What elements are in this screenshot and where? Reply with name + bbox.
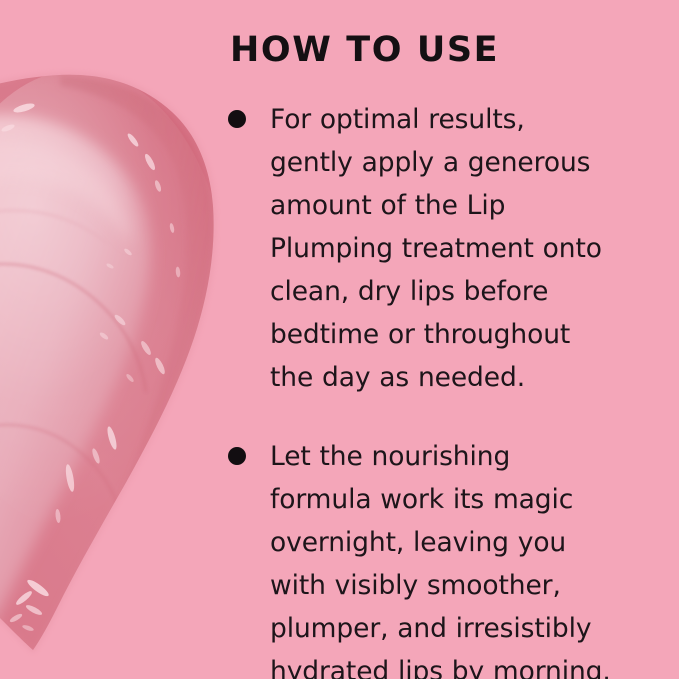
text-line: amount of the Lip (270, 184, 654, 227)
smear-fold-line-2 (0, 425, 120, 512)
smear-base-fill (0, 60, 250, 679)
text-line: For optimal results, (270, 98, 654, 141)
text-line: the day as needed. (270, 356, 654, 399)
overnight-instruction-text: Let the nourishing formula work its magi… (270, 435, 654, 679)
bullet-dot-icon (228, 447, 246, 465)
smear-sheen (0, 70, 228, 530)
text-line: hydrated lips by morning. (270, 650, 654, 679)
list-item-overnight-instruction: Let the nourishing formula work its magi… (228, 435, 654, 679)
text-line: formula work its magic (270, 478, 654, 521)
text-line: Plumping treatment onto (270, 227, 654, 270)
page-title: HOW TO USE (230, 28, 654, 72)
apply-instruction-text: For optimal results, gently apply a gene… (270, 98, 654, 399)
text-line: with visibly smoother, (270, 564, 654, 607)
text-line: bedtime or throughout (270, 313, 654, 356)
smear-pale-interior (0, 115, 150, 630)
instructions-content: HOW TO USE For optimal results, gently a… (228, 28, 654, 679)
bullet-dot-icon (228, 110, 246, 128)
smear-upper-crescent (0, 140, 132, 246)
smear-outline-soften (0, 75, 214, 650)
smear-right-rim (60, 74, 214, 532)
text-line: overnight, leaving you (270, 521, 654, 564)
how-to-use-panel: HOW TO USE For optimal results, gently a… (0, 0, 679, 679)
text-line: Let the nourishing (270, 435, 654, 478)
text-line: clean, dry lips before (270, 270, 654, 313)
smear-highlight-specks (1, 102, 181, 632)
text-line: gently apply a generous (270, 141, 654, 184)
text-line: plumper, and irresistibly (270, 607, 654, 650)
list-item-apply-instruction: For optimal results, gently apply a gene… (228, 98, 654, 399)
smear-fold-highlight-1 (0, 211, 108, 244)
smear-body-group (0, 60, 250, 679)
smear-fold-line-1 (0, 264, 146, 392)
